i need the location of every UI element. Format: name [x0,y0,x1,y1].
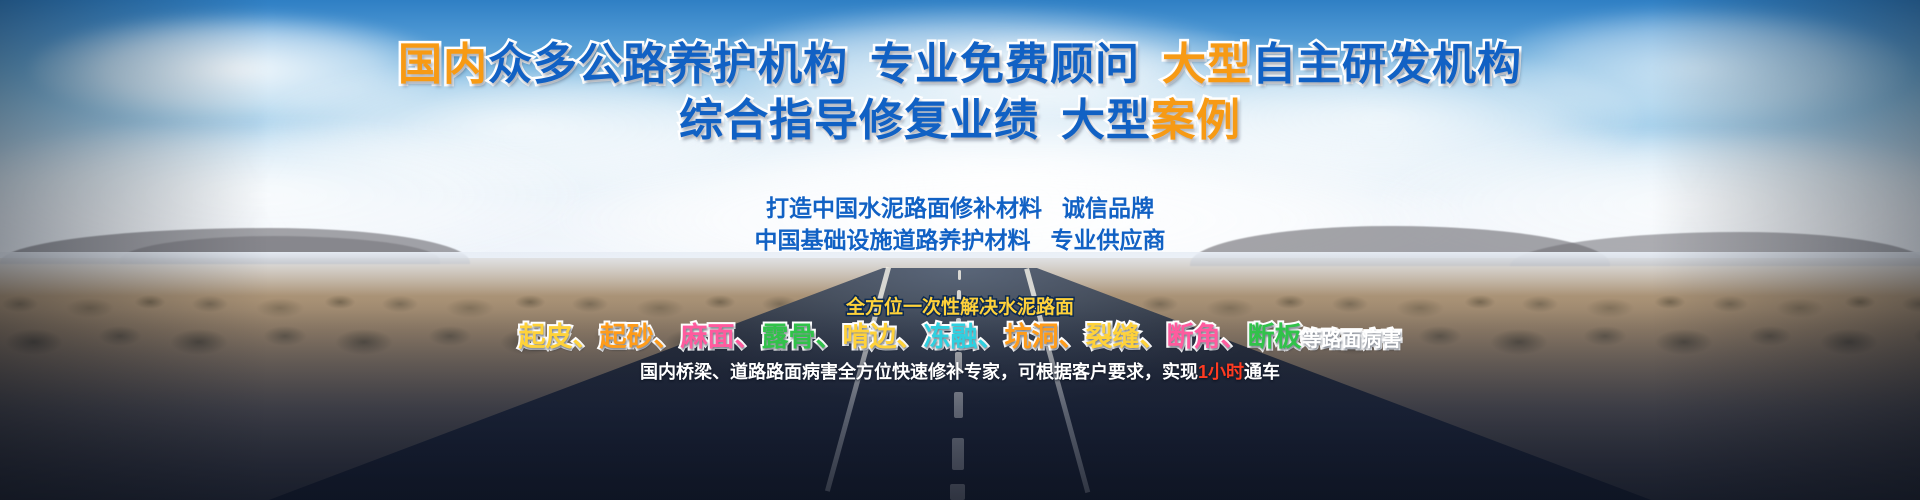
headline-1-part-2: 众多公路养护机构 [488,40,848,89]
headline-1-part-6: 自主研发机构 [1252,40,1522,89]
subcopy-2-b: 专业供应商 [1051,227,1166,253]
defect-item-6: 坑洞、 [1005,322,1086,352]
subcopy-2-a: 中国基础设施道路养护材料 [755,227,1031,253]
headline-1-part-1: 国内 [398,40,488,89]
defect-list: 起皮、起砂、麻面、露骨、啃边、冻融、坑洞、裂缝、断角、断板等路面病害 [0,315,1920,354]
tagline-highlight: 1小时 [1198,362,1244,382]
headline-1-part-3: 专业 [870,40,960,89]
headline-2-part-3: 案例 [1151,96,1241,145]
headline-1-part-5: 大型 [1162,40,1252,89]
defect-items: 起皮、起砂、麻面、露骨、啃边、冻融、坑洞、裂缝、断角、断板 [519,322,1302,352]
defect-item-1: 起砂、 [600,322,681,352]
defect-item-9: 断板 [1248,322,1302,352]
defect-item-7: 裂缝、 [1086,322,1167,352]
defect-suffix: 等路面病害 [1302,329,1402,351]
subcopy-1-b: 诚信品牌 [1062,195,1154,221]
defect-item-2: 麻面、 [681,322,762,352]
tagline-part-b: 通车 [1244,362,1280,382]
subcopy-line-2: 中国基础设施道路养护材料专业供应商 [0,224,1920,257]
headline-line-2: 综合指导修复业绩大型案例 [0,98,1920,145]
headline-2-part-2: 大型 [1061,96,1151,145]
defect-item-4: 啃边、 [843,322,924,352]
defect-item-8: 断角、 [1167,322,1248,352]
headline-line-1: 国内众多公路养护机构专业免费顾问大型自主研发机构 [0,42,1920,89]
headline-1-part-4: 免费顾问 [960,40,1140,89]
tagline-part-a: 国内桥梁、道路路面病害全方位快速修补专家，可根据客户要求，实现 [640,362,1198,382]
headline-2-part-1: 综合指导修复业绩 [679,96,1039,145]
defect-item-5: 冻融、 [924,322,1005,352]
defect-item-3: 露骨、 [762,322,843,352]
subcopy-1-a: 打造中国水泥路面修补材料 [766,195,1042,221]
subcopy-line-1: 打造中国水泥路面修补材料诚信品牌 [0,192,1920,225]
defect-item-0: 起皮、 [519,322,600,352]
promo-banner: 国内众多公路养护机构专业免费顾问大型自主研发机构 综合指导修复业绩大型案例 打造… [0,0,1920,500]
bottom-tagline: 国内桥梁、道路路面病害全方位快速修补专家，可根据客户要求，实现1小时通车 [0,358,1920,384]
